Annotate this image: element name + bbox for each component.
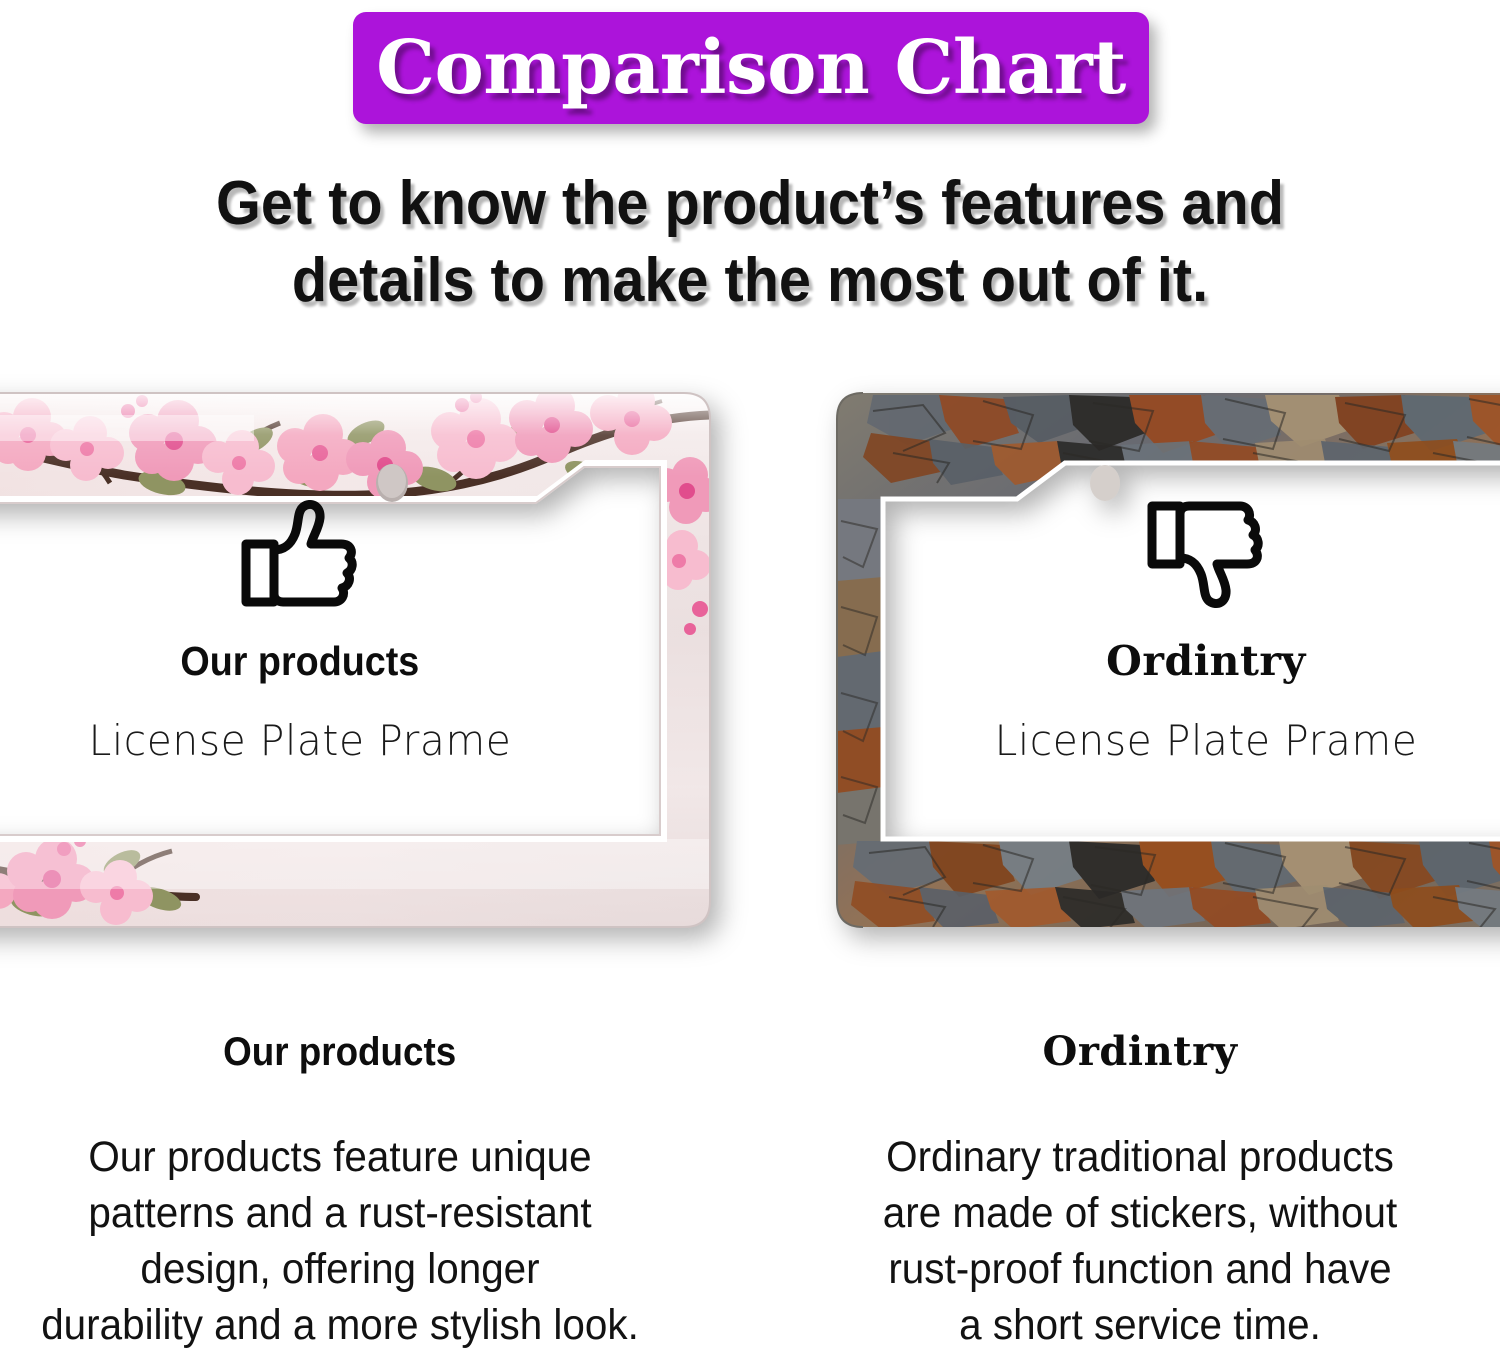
thumbs-up-icon [0,498,600,615]
column-body-line: design, offering longer [20,1242,659,1298]
column-body-line: patterns and a rust-resistant [20,1186,659,1242]
thumbs-down-icon [906,498,1500,615]
column-heading-ours: Our products [0,1032,680,1072]
column-body-line: are made of stickers, without [820,1186,1459,1242]
comparison-chart-page: Comparison Chart Get to know the product… [0,0,1500,1364]
column-body-line: rust-proof function and have [820,1242,1459,1298]
column-body-line: durability and a more stylish look. [20,1298,659,1354]
column-body-line: a short service time. [820,1298,1459,1354]
ordinary-product-frame-content: Ordintry License Plate Prame [906,498,1500,762]
column-heading-other: Ordintry [800,1032,1480,1072]
column-body-other: Ordinary traditional products are made o… [820,1130,1459,1354]
comparison-column-ours: Our products Our products feature unique… [0,1032,680,1354]
brand-label-ours: Our products [0,641,600,682]
product-label-other: License Plate Prame [915,720,1497,762]
column-body-line: Our products feature unique [20,1130,659,1186]
column-body-line: Ordinary traditional products [820,1130,1459,1186]
product-label-ours: License Plate Prame [9,720,591,762]
our-product-frame-content: Our products License Plate Prame [0,498,600,762]
comparison-column-other: Ordintry Ordinary traditional products a… [800,1032,1480,1354]
column-body-ours: Our products feature unique patterns and… [20,1130,659,1354]
brand-label-other: Ordintry [906,641,1500,682]
